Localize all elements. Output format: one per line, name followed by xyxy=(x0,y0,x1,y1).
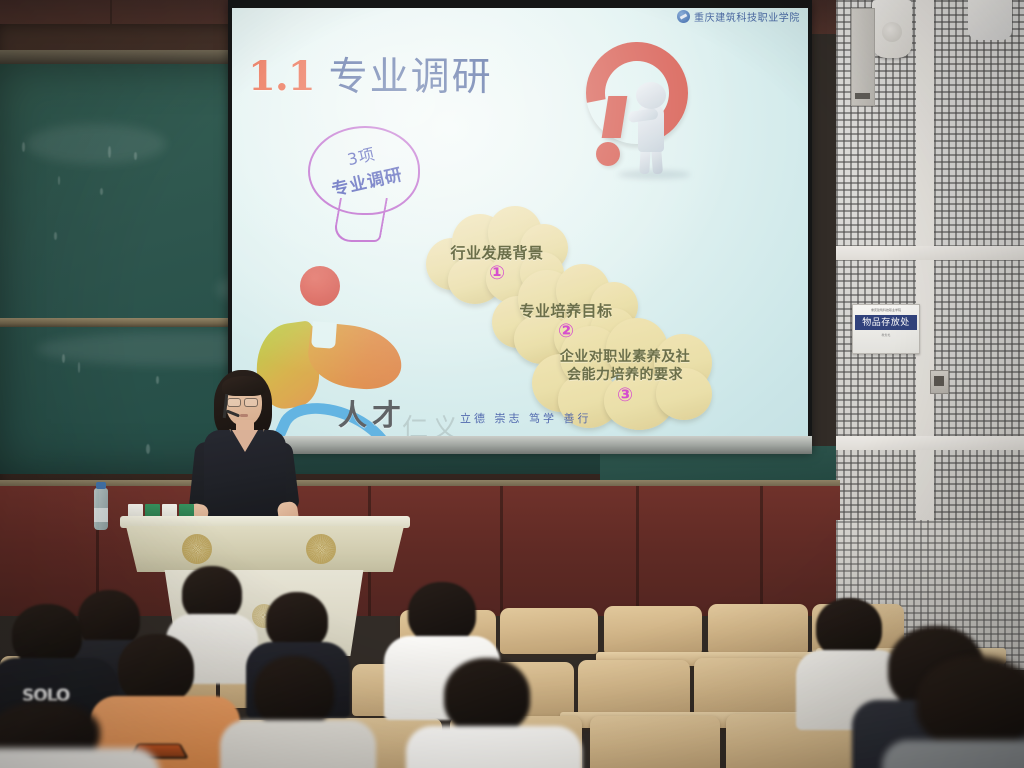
cloud-label-2: 专业培养目标 xyxy=(490,300,642,321)
speaker-icon xyxy=(968,0,1012,40)
screen-bottom-bar xyxy=(228,436,812,454)
sunburst-medallion-icon xyxy=(306,534,336,564)
speaker-icon xyxy=(872,0,912,58)
presenter-mouth xyxy=(240,414,248,417)
slide-watermark: 仁义 xyxy=(402,408,462,438)
slide-title: 1.1 专业调研 xyxy=(248,46,493,102)
panel-gap xyxy=(836,246,1024,260)
wall-sign-main-text: 物品存放处 xyxy=(855,315,917,330)
slide-title-text: 专业调研 xyxy=(329,46,493,102)
wainscot-seam xyxy=(500,486,503,616)
school-emblem-icon xyxy=(677,10,690,23)
cloud-number-1: ① xyxy=(422,262,572,284)
speech-bubble-tail xyxy=(332,198,388,242)
wainscot-seam xyxy=(636,486,639,616)
student-foreground xyxy=(0,702,146,768)
wall-sign: 重庆建筑科技职业学院 物品存放处 教务处 xyxy=(852,304,920,354)
lecture-seat xyxy=(694,658,806,716)
cloud-number-2: ② xyxy=(490,320,642,342)
slide-motto: 立德 崇志 笃学 善行 xyxy=(460,410,592,426)
panel-gap xyxy=(836,436,1024,450)
lecture-hall-photo: 重庆建筑科技职业学院 物品存放处 教务处 重庆建筑科技职业学院 1.1 专业调研… xyxy=(0,0,1024,768)
presenter-fringe xyxy=(222,376,266,396)
presenter xyxy=(186,368,302,538)
eyeglasses-icon xyxy=(227,398,241,407)
eyeglasses-icon xyxy=(244,398,258,407)
wall-outlet-icon xyxy=(930,370,949,394)
bottle-cap xyxy=(96,482,106,489)
lecture-seat xyxy=(500,608,598,654)
lecture-seat xyxy=(604,606,702,654)
lecture-seat xyxy=(578,660,690,716)
lecture-seat xyxy=(590,716,720,768)
cloud-label-1: 行业发展背景 xyxy=(422,242,572,263)
bottle-label xyxy=(94,508,108,522)
student-foreground xyxy=(900,656,1024,768)
slide-header: 重庆建筑科技职业学院 xyxy=(677,9,800,24)
cloud-label-3-line1: 企业对职业素养及社 xyxy=(532,346,718,366)
logo-notch xyxy=(311,321,337,349)
wall-sign-bottom-text: 教务处 xyxy=(855,333,917,337)
cloud-label-3-line2: 会能力培养的要求 xyxy=(532,364,718,384)
wainscot-seam xyxy=(760,486,763,616)
audience-seating: SOLO xyxy=(0,600,1024,768)
slide-institution-name: 重庆建筑科技职业学院 xyxy=(694,9,800,24)
wall-sign-top-text: 重庆建筑科技职业学院 xyxy=(855,308,917,312)
student xyxy=(418,658,568,768)
figure-head xyxy=(636,82,666,109)
projected-slide: 重庆建筑科技职业学院 1.1 专业调研 3项 专业调研 xyxy=(232,8,808,438)
wall-fixture xyxy=(851,8,875,106)
lecture-seat xyxy=(708,604,808,654)
slide-title-number: 1.1 xyxy=(248,53,315,100)
sunburst-medallion-icon xyxy=(182,534,212,564)
talent-logo-word: 人才 xyxy=(338,392,406,434)
question-mark-illustration xyxy=(578,38,698,168)
question-mark-dot xyxy=(596,142,620,166)
student xyxy=(230,656,366,768)
logo-sun-icon xyxy=(300,266,340,306)
cloud-number-3: ③ xyxy=(532,384,718,406)
